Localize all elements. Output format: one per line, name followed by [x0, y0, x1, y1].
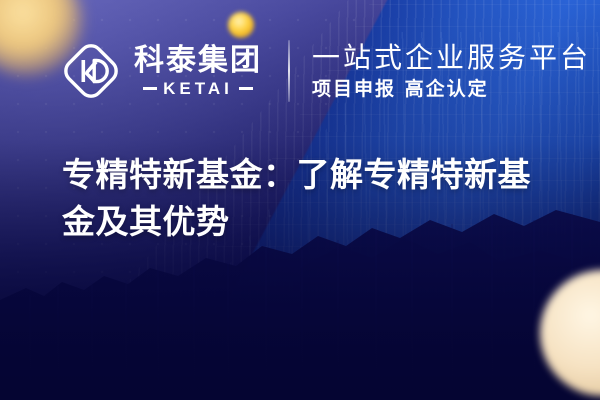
wordmark-dash-right-icon	[239, 87, 253, 90]
brand-name-en-row: KETAI	[143, 80, 253, 97]
wordmark-dash-left-icon	[143, 87, 157, 90]
brand-wordmark: 科泰集团 KETAI	[134, 45, 262, 97]
gold-dot-orb-icon	[228, 12, 254, 38]
ketai-diamond-monogram-icon	[60, 40, 122, 102]
banner-header: 科泰集团 KETAI 一站式企业服务平台 项目申报 高企认定	[60, 40, 591, 102]
tagline-secondary: 项目申报 高企认定	[312, 79, 591, 100]
tagline-primary: 一站式企业服务平台	[312, 42, 591, 73]
header-divider	[288, 40, 290, 102]
brand-logo: 科泰集团 KETAI	[60, 40, 262, 102]
tagline-block: 一站式企业服务平台 项目申报 高企认定	[312, 42, 591, 99]
brand-name-cn: 科泰集团	[134, 45, 262, 77]
page-title: 专精特新基金：了解专精特新基金及其优势	[62, 152, 558, 246]
promo-banner: 科泰集团 KETAI 一站式企业服务平台 项目申报 高企认定 专精特新基金：了解…	[0, 0, 600, 400]
brand-name-en: KETAI	[163, 80, 233, 97]
